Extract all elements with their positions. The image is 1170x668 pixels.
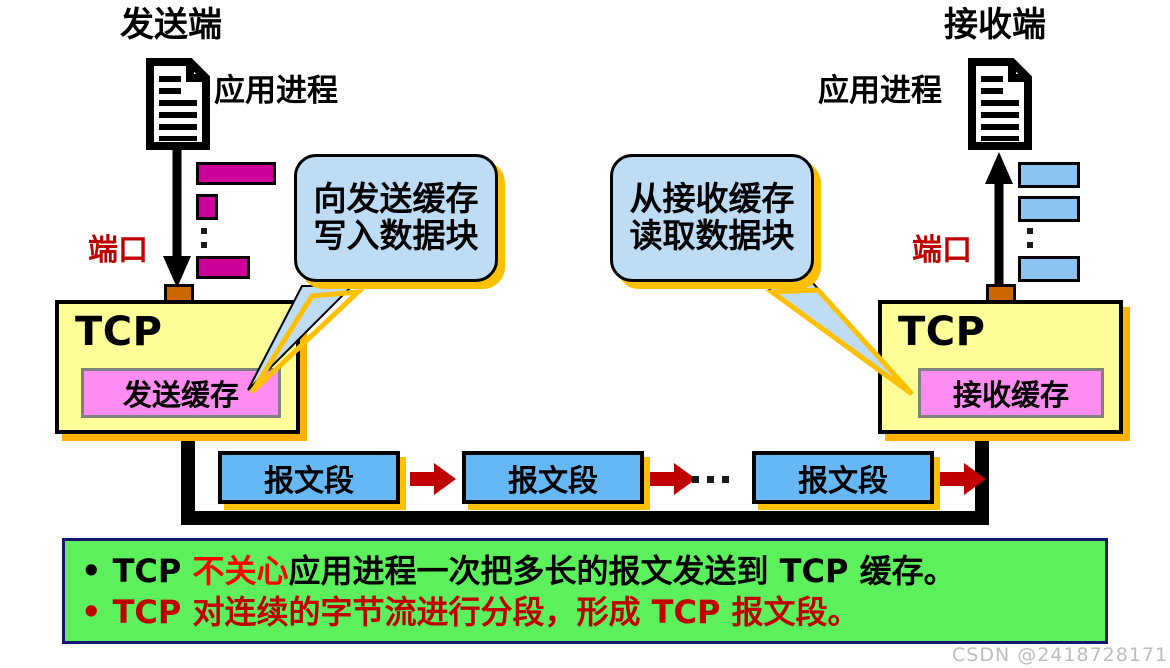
segment-box: 报文段 [462, 451, 644, 504]
receive-buffer: 接收缓存 [918, 368, 1104, 418]
callout-write-to-send-buffer: 向发送缓存 写入数据块 [294, 154, 498, 282]
arrow-down-icon [160, 146, 200, 294]
receiver-process-label: 应用进程 [818, 76, 942, 107]
callout-line-2: 写入数据块 [314, 218, 479, 255]
note-line-2: • TCP 对连续的字节流进行分段，形成 TCP 报文段。 [81, 592, 1089, 633]
recv-data-block [1018, 196, 1080, 222]
send-data-block [196, 256, 250, 279]
segment-label: 报文段 [798, 456, 888, 500]
note-bullet: • [81, 552, 101, 590]
receiver-title: 接收端 [944, 8, 1046, 42]
callout-line-1: 向发送缓存 [314, 181, 479, 218]
segment-box: 报文段 [752, 451, 934, 504]
red-arrow-right-icon [410, 462, 458, 496]
receiver-tcp-label: TCP [898, 312, 985, 352]
arrow-up-icon [982, 146, 1022, 294]
summary-note: • TCP 不关心应用进程一次把多长的报文发送到 TCP 缓存。 • TCP 对… [62, 538, 1108, 644]
receiver-tcp-box: TCP 接收缓存 [878, 300, 1123, 434]
note-line-1: • TCP 不关心应用进程一次把多长的报文发送到 TCP 缓存。 [81, 551, 1089, 592]
red-arrow-right-icon [650, 462, 698, 496]
sender-process-label: 应用进程 [214, 76, 338, 107]
recv-data-block [1018, 256, 1080, 282]
document-icon [146, 58, 210, 150]
sender-port-label: 端口 [88, 236, 148, 266]
note-line1-seg3: 应用进程一次把多长的报文发送到 TCP 缓存。 [289, 552, 956, 590]
callout-line-2: 读取数据块 [630, 218, 795, 255]
sender-tcp-label: TCP [75, 312, 162, 352]
note-line1-seg1: TCP [113, 552, 193, 590]
red-arrow-right-icon [940, 462, 988, 496]
document-icon [968, 58, 1032, 150]
note-bullet: • [81, 593, 101, 631]
callout-line-1: 从接收缓存 [630, 181, 795, 218]
note-line1-highlight: 不关心 [193, 552, 289, 590]
note-line2-text: TCP 对连续的字节流进行分段，形成 TCP 报文段。 [113, 593, 860, 631]
recv-data-block [1018, 162, 1080, 188]
send-buffer: 发送缓存 [81, 368, 281, 418]
segments-ellipsis-icon [692, 476, 729, 483]
segment-label: 报文段 [508, 456, 598, 500]
diagram-canvas: 发送端 应用进程 端口 TCP 发送缓存 接收端 应用进程 [0, 0, 1170, 668]
sender-title: 发送端 [120, 8, 222, 42]
callout-read-from-receive-buffer: 从接收缓存 读取数据块 [610, 154, 814, 282]
send-data-block [196, 194, 218, 220]
watermark: CSDN @2418728171 [952, 644, 1168, 666]
receiver-port-label: 端口 [912, 236, 972, 266]
send-data-block [196, 162, 276, 185]
segment-label: 报文段 [264, 456, 354, 500]
segment-box: 报文段 [218, 451, 400, 504]
sender-tcp-box: TCP 发送缓存 [55, 300, 300, 434]
